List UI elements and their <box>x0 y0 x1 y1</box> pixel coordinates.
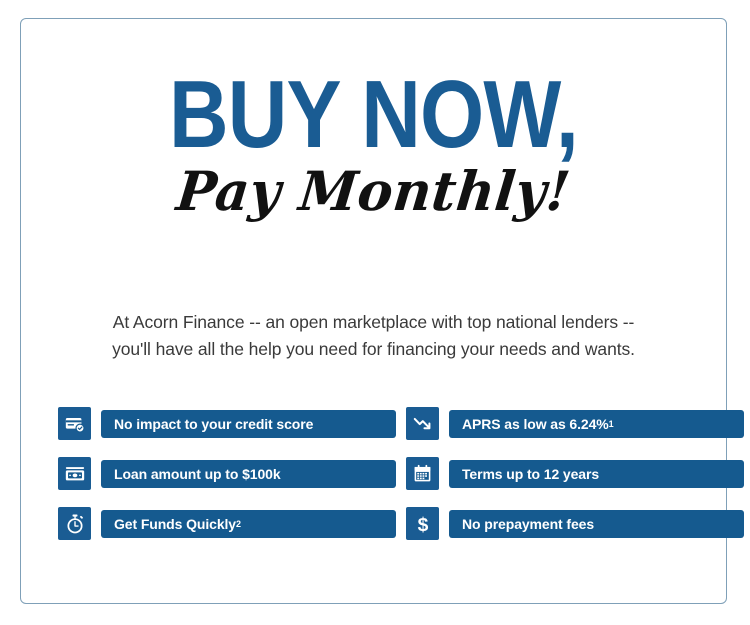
svg-text:$: $ <box>417 514 428 534</box>
credit-card-check-icon <box>58 407 91 440</box>
feature-item: APRS as low as 6.24%1 <box>406 407 744 440</box>
feature-pill: Loan amount up to $100k <box>101 460 396 488</box>
feature-label: APRS as low as 6.24% <box>462 416 609 432</box>
feature-label: Terms up to 12 years <box>462 466 599 482</box>
stopwatch-icon <box>58 507 91 540</box>
banknote-icon <box>58 457 91 490</box>
trending-down-icon <box>406 407 439 440</box>
headline-primary: BUY NOW, <box>70 71 676 159</box>
feature-label: No prepayment fees <box>462 516 594 532</box>
feature-item: $ No prepayment fees <box>406 507 744 540</box>
feature-label: Get Funds Quickly <box>114 516 236 532</box>
feature-pill: APRS as low as 6.24%1 <box>449 410 744 438</box>
headline: BUY NOW, Pay Monthly! <box>21 71 726 220</box>
feature-pill: No impact to your credit score <box>101 410 396 438</box>
feature-item: Get Funds Quickly2 <box>58 507 396 540</box>
feature-item: Loan amount up to $100k <box>58 457 396 490</box>
promo-card: BUY NOW, Pay Monthly! At Acorn Finance -… <box>20 18 727 604</box>
feature-grid: No impact to your credit score APRS as l… <box>58 407 711 540</box>
feature-pill: Terms up to 12 years <box>449 460 744 488</box>
feature-label: Loan amount up to $100k <box>114 466 281 482</box>
feature-item: No impact to your credit score <box>58 407 396 440</box>
feature-label: No impact to your credit score <box>114 416 313 432</box>
feature-pill: No prepayment fees <box>449 510 744 538</box>
feature-item: Terms up to 12 years <box>406 457 744 490</box>
feature-pill: Get Funds Quickly2 <box>101 510 396 538</box>
calendar-icon <box>406 457 439 490</box>
intro-paragraph: At Acorn Finance -- an open marketplace … <box>109 309 639 363</box>
headline-script: Pay Monthly! <box>29 163 719 220</box>
dollar-sign-icon: $ <box>406 507 439 540</box>
